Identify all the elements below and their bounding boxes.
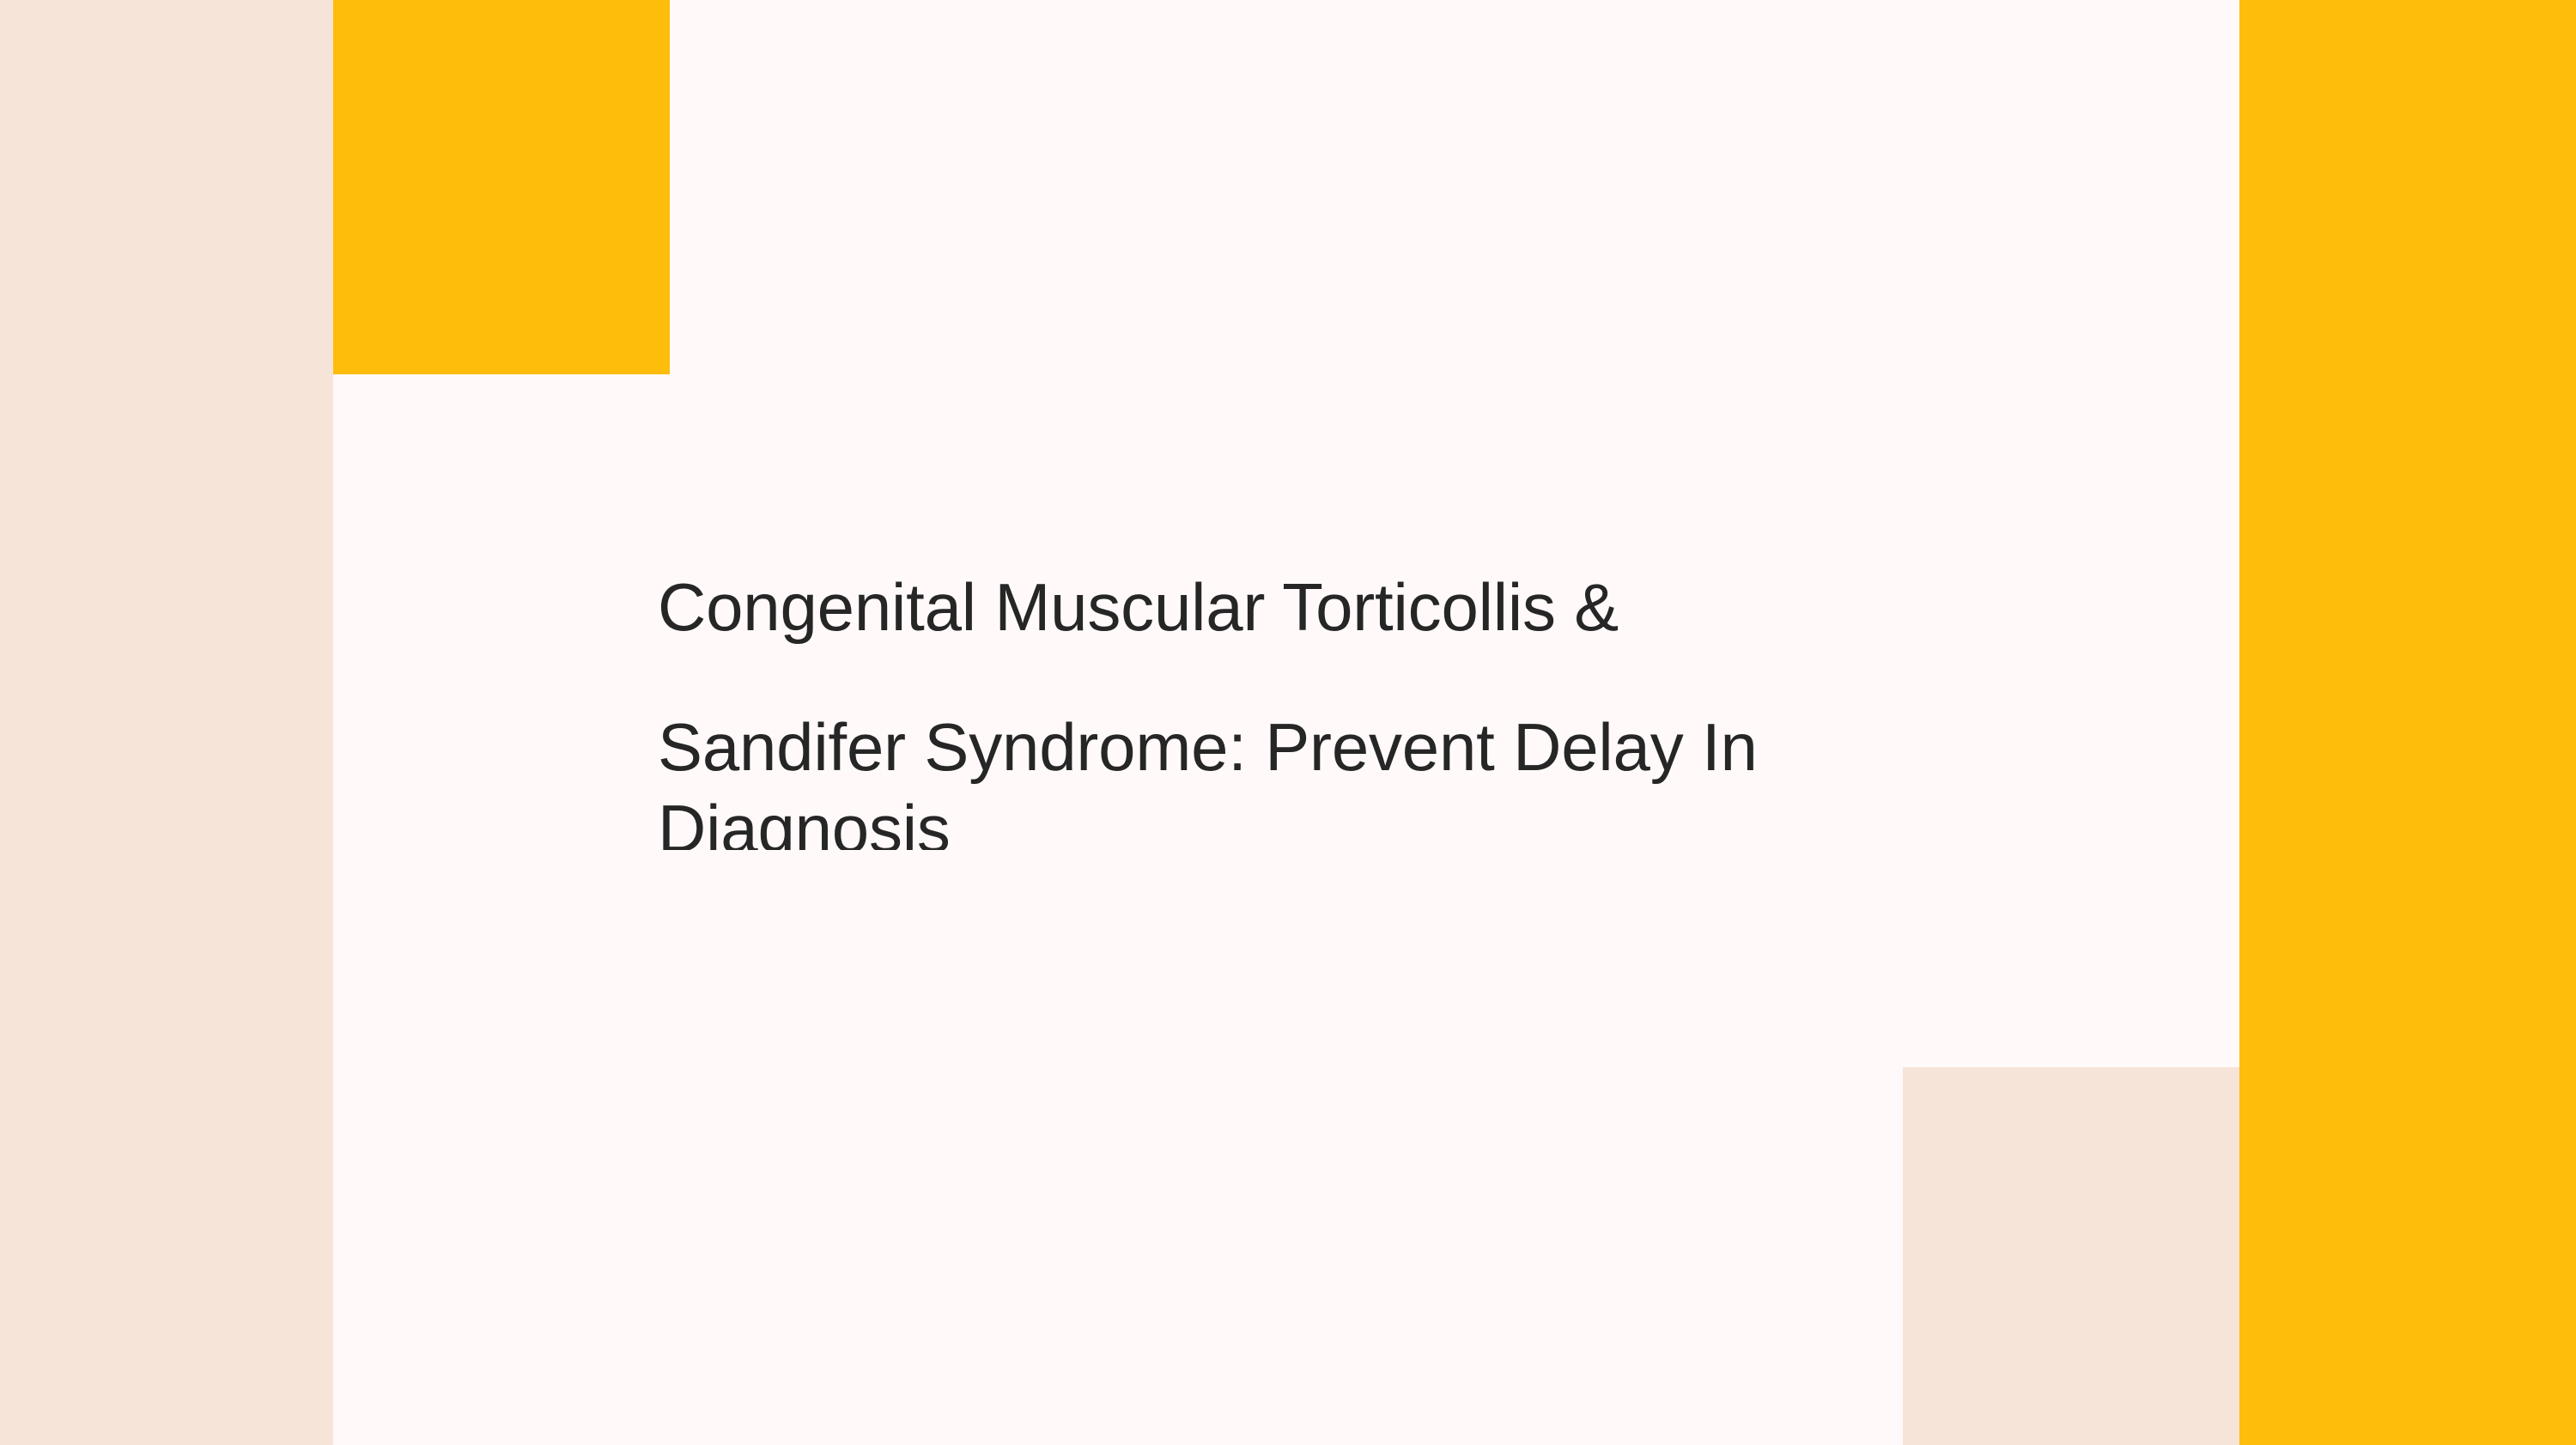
slide-title-block[interactable]: Congenital Muscular Torticollis & Sandif… [658,567,1860,850]
bottom-right-beige-block-decoration [1903,1067,2239,1445]
left-beige-column-decoration [0,0,333,1445]
presentation-slide: Congenital Muscular Torticollis & Sandif… [0,0,2576,1445]
top-yellow-block-decoration [333,0,670,374]
slide-title-line-1: Congenital Muscular Torticollis & [658,567,1860,648]
slide-title-line-2: Sandifer Syndrome: Prevent Delay In Diag… [658,707,1860,850]
right-yellow-bar-decoration [2239,0,2576,1445]
